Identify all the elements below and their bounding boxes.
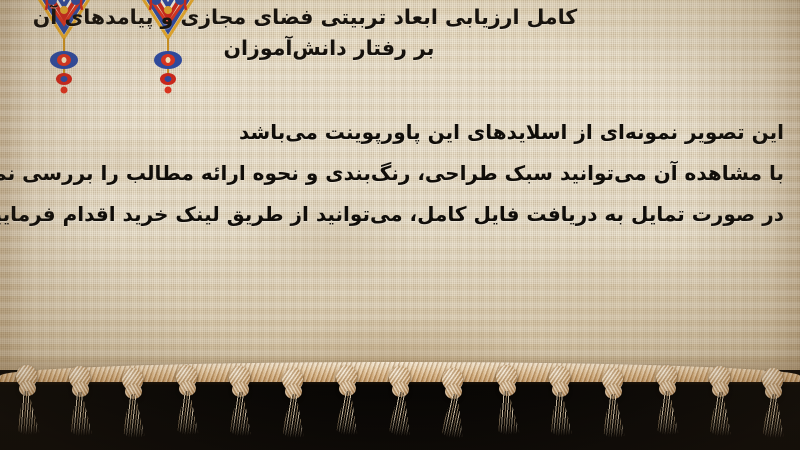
fringe-tassel bbox=[490, 359, 524, 437]
tassel-threads bbox=[708, 392, 732, 436]
fringe-tassel bbox=[276, 362, 310, 440]
slide-title-line-2: بر رفتار دانش‌آموزان bbox=[18, 33, 782, 64]
fringe-tassel bbox=[63, 360, 97, 438]
tassel-threads bbox=[281, 393, 306, 437]
fringe-tassel bbox=[10, 359, 44, 437]
fringe-tassel bbox=[756, 362, 790, 440]
tassel-threads bbox=[493, 390, 520, 436]
tassel-threads bbox=[387, 391, 413, 436]
slide-canvas: کامل ارزیابی ابعاد تربیتی فضای مجازی و پ… bbox=[0, 0, 800, 450]
tassel-threads bbox=[121, 393, 147, 438]
tassel-threads bbox=[601, 393, 627, 438]
fringe-tassel bbox=[703, 360, 737, 438]
fringe-tassel bbox=[543, 360, 577, 438]
body-line-3: در صورت تمایل به دریافت فایل کامل، می‌تو… bbox=[14, 194, 784, 235]
fringe-tassel bbox=[436, 362, 470, 440]
tassel-threads bbox=[334, 390, 360, 435]
tassel-threads bbox=[547, 391, 573, 436]
slide-title-line-1: کامل ارزیابی ابعاد تربیتی فضای مجازی و پ… bbox=[18, 2, 782, 33]
slide-body-text: این تصویر نمونه‌ای از اسلایدهای این پاور… bbox=[14, 112, 784, 235]
fringe-tassel bbox=[383, 360, 417, 438]
tassel-threads bbox=[67, 391, 93, 436]
tassel-threads bbox=[440, 393, 467, 439]
tassel-threads bbox=[174, 390, 199, 434]
fringe-tassel bbox=[650, 359, 684, 437]
fringe-tassel bbox=[170, 359, 204, 437]
fringe-tassel bbox=[116, 362, 150, 440]
tassel-threads bbox=[654, 390, 679, 434]
fringe-tassel bbox=[596, 362, 630, 440]
body-line-2: با مشاهده آن می‌توانید سبک طراحی، رنگ‌بن… bbox=[14, 153, 784, 194]
slide-title: کامل ارزیابی ابعاد تربیتی فضای مجازی و پ… bbox=[18, 2, 782, 64]
fringe-tassel bbox=[223, 360, 257, 438]
fringe-tassel bbox=[330, 359, 364, 437]
tassel-threads bbox=[761, 393, 786, 437]
tassel-threads bbox=[13, 390, 40, 436]
tassel-threads bbox=[228, 392, 252, 436]
body-line-1: این تصویر نمونه‌ای از اسلایدهای این پاور… bbox=[14, 112, 784, 153]
